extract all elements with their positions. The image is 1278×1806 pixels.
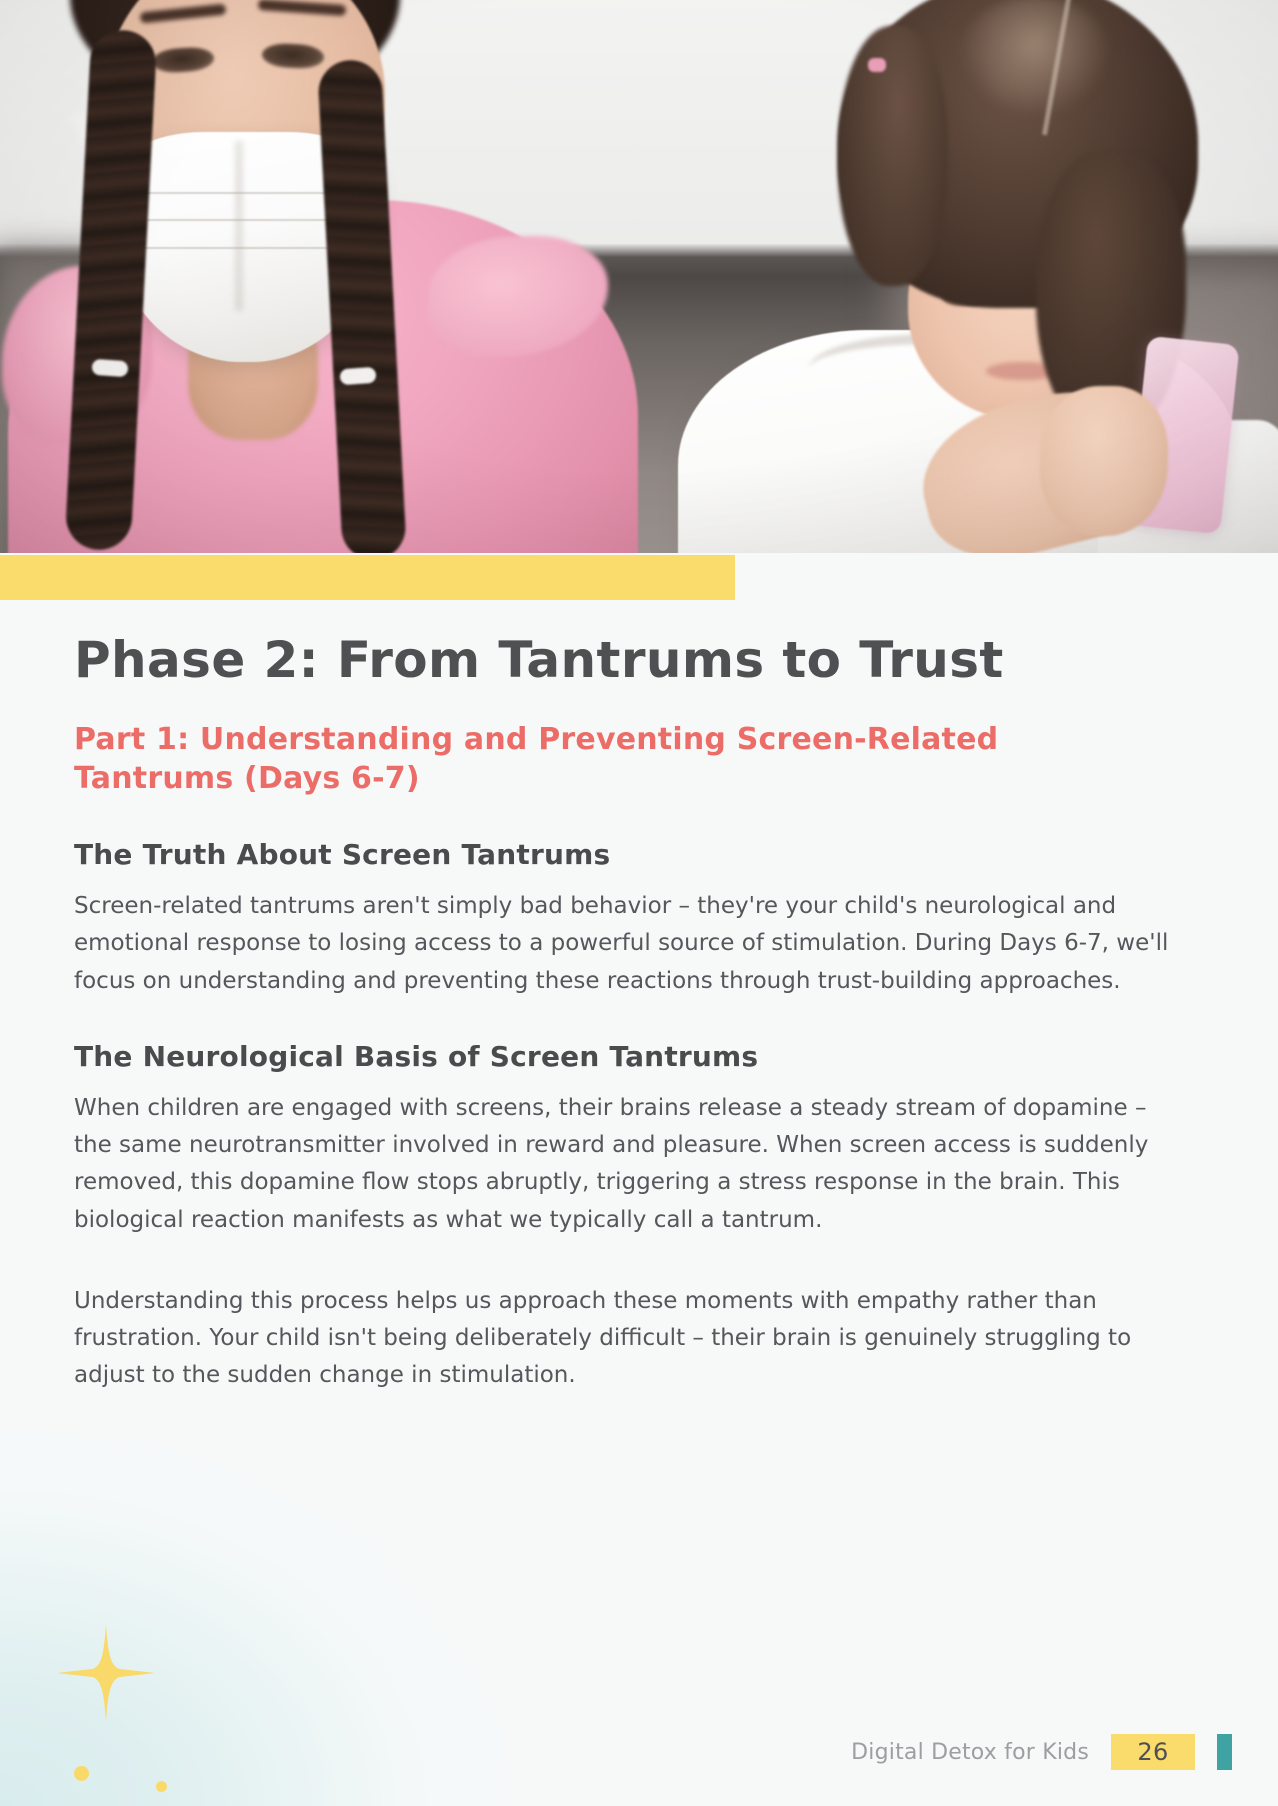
paragraph-empathy-over-frustration: Understanding this process helps us appr… (74, 1283, 1169, 1395)
background-mint-glow (0, 1326, 620, 1806)
paragraph-truth-about-screen-tantrums: Screen-related tantrums aren't simply ba… (74, 888, 1169, 1000)
hero-photo (0, 0, 1278, 553)
paragraph-dopamine-stress-response: When children are engaged with screens, … (74, 1090, 1169, 1239)
dot-icon (74, 1766, 89, 1781)
page-content: Phase 2: From Tantrums to Trust Part 1: … (74, 632, 1184, 1395)
page-title: Phase 2: From Tantrums to Trust (74, 632, 1184, 688)
four-point-star-icon (55, 1622, 157, 1724)
dot-icon (156, 1781, 167, 1792)
section-heading-neurological-basis: The Neurological Basis of Screen Tantrum… (74, 1040, 1184, 1073)
part-subtitle: Part 1: Understanding and Preventing Scr… (74, 720, 1074, 798)
page-footer: Digital Detox for Kids 26 (851, 1734, 1232, 1770)
teal-accent-tick (1217, 1734, 1232, 1770)
yellow-accent-rule (0, 555, 735, 600)
section-heading-truth-about-screen-tantrums: The Truth About Screen Tantrums (74, 838, 1184, 871)
footer-book-title: Digital Detox for Kids (851, 1740, 1089, 1765)
hero-vignette (0, 0, 1278, 553)
ebook-page: Phase 2: From Tantrums to Trust Part 1: … (0, 0, 1278, 1806)
page-number-badge: 26 (1111, 1734, 1195, 1770)
